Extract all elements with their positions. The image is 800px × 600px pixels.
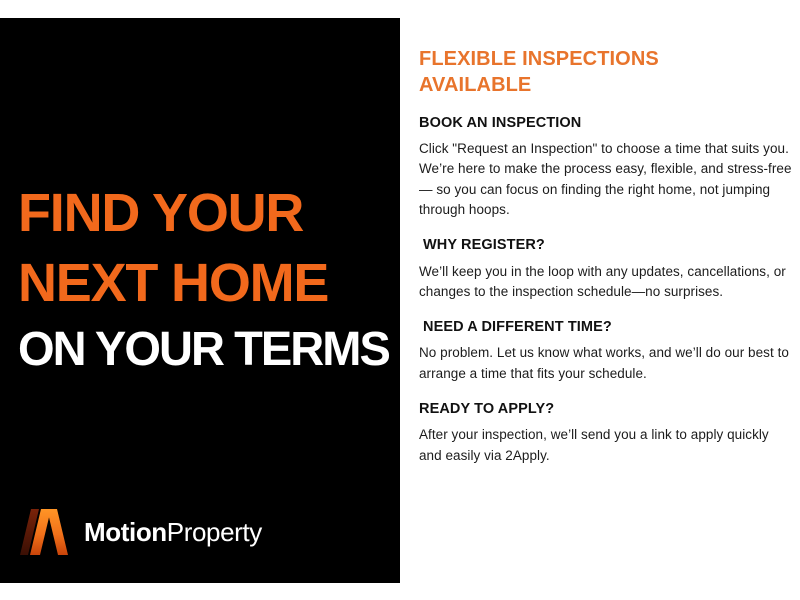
section-body-book-an-inspection: Click "Request an Inspection" to choose … bbox=[419, 139, 794, 220]
hero-panel: FIND YOUR NEXT HOME ON YOUR TERMS bbox=[0, 18, 400, 583]
motion-property-m-mark bbox=[20, 509, 74, 555]
section-heading-book-an-inspection: BOOK AN INSPECTION bbox=[419, 115, 794, 132]
section-heading-why-register: WHY REGISTER? bbox=[419, 237, 794, 254]
section-ready-to-apply: READY TO APPLY? After your inspection, w… bbox=[419, 401, 794, 466]
section-book-an-inspection: BOOK AN INSPECTION Click "Request an Ins… bbox=[419, 115, 794, 220]
section-body-ready-to-apply: After your inspection, we’ll send you a … bbox=[419, 425, 794, 466]
motion-property-logo: MotionProperty bbox=[20, 509, 262, 555]
section-body-why-register: We’ll keep you in the loop with any upda… bbox=[419, 262, 794, 303]
content-title: FLEXIBLE INSPECTIONS AVAILABLE bbox=[419, 46, 699, 99]
hero-headline-line-1: FIND YOUR bbox=[18, 186, 390, 240]
section-need-a-different-time: NEED A DIFFERENT TIME? No problem. Let u… bbox=[419, 319, 794, 384]
content-column: FLEXIBLE INSPECTIONS AVAILABLE BOOK AN I… bbox=[419, 46, 794, 479]
hero-headline-line-2: NEXT HOME bbox=[18, 256, 390, 310]
section-heading-ready-to-apply: READY TO APPLY? bbox=[419, 401, 794, 418]
section-why-register: WHY REGISTER? We’ll keep you in the loop… bbox=[419, 237, 794, 302]
hero-headline: FIND YOUR NEXT HOME ON YOUR TERMS bbox=[18, 186, 390, 374]
logo-word-property: Property bbox=[167, 517, 262, 547]
section-heading-need-a-different-time: NEED A DIFFERENT TIME? bbox=[419, 319, 794, 336]
logo-wordmark: MotionProperty bbox=[84, 519, 262, 545]
logo-word-motion: Motion bbox=[84, 517, 167, 547]
section-body-need-a-different-time: No problem. Let us know what works, and … bbox=[419, 343, 794, 384]
hero-headline-line-3: ON YOUR TERMS bbox=[18, 326, 383, 374]
flyer-page: FIND YOUR NEXT HOME ON YOUR TERMS bbox=[0, 0, 800, 600]
